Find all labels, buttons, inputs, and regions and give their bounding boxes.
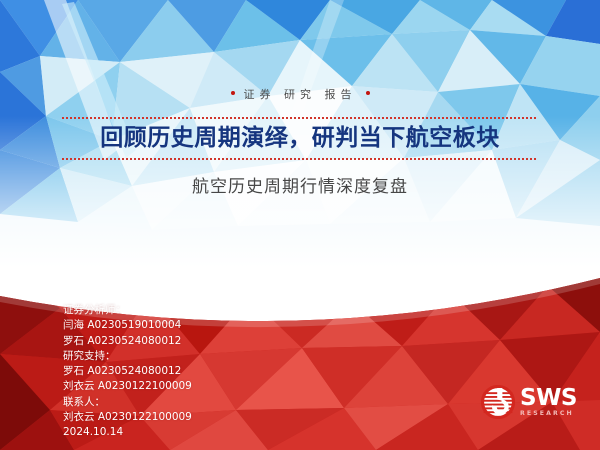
credit-line: 罗石 A0230524080012 [63, 364, 192, 379]
analyst-credits: 证券分析师： 闫海 A0230519010004 罗石 A02305240800… [63, 303, 192, 441]
kicker-text: 证券 研究 报告 [244, 86, 357, 102]
sws-circle-mark-icon [481, 385, 515, 419]
kicker-line: 证券 研究 报告 [0, 85, 600, 103]
sws-logo: SWS RESEARCH [481, 385, 577, 419]
title-rule-bottom [62, 158, 538, 160]
credit-line: 罗石 A0230524080012 [63, 334, 192, 349]
kicker-dot-right [366, 91, 370, 95]
kicker-dot-left [231, 91, 235, 95]
report-date: 2024.10.14 [63, 425, 192, 440]
credit-line: 刘衣云 A0230122100009 [63, 379, 192, 394]
sws-wordmark: SWS [520, 387, 577, 410]
title-block: 回顾历史周期演绎，研判当下航空板块 [62, 117, 538, 160]
report-cover-slide: 证券 研究 报告 回顾历史周期演绎，研判当下航空板块 航空历史周期行情深度复盘 [0, 0, 600, 450]
credit-line: 研究支持： [63, 349, 192, 364]
credit-line: 刘衣云 A0230122100009 [63, 410, 192, 425]
credit-line: 联系人： [63, 395, 192, 410]
credit-line: 闫海 A0230519010004 [63, 318, 192, 333]
sws-tagline: RESEARCH [520, 411, 577, 417]
credit-line: 证券分析师： [63, 303, 192, 318]
page-title: 回顾历史周期演绎，研判当下航空板块 [62, 119, 538, 158]
sws-wordmark-group: SWS RESEARCH [520, 387, 577, 417]
page-subtitle: 航空历史周期行情深度复盘 [0, 172, 600, 197]
